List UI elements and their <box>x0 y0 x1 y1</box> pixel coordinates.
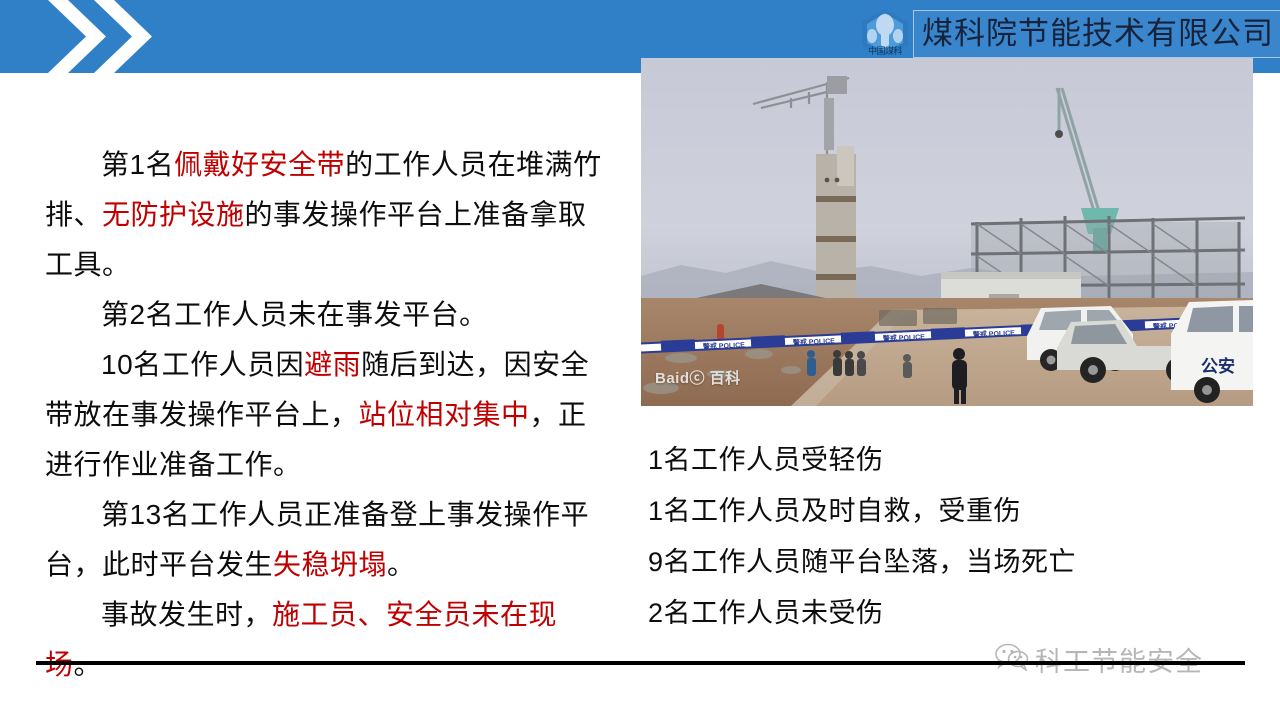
channel-watermark: 科工节能安全 <box>995 640 1203 679</box>
body-text: 事故发生时， <box>101 599 272 630</box>
highlighted-text: 佩戴好安全带 <box>174 149 345 180</box>
watermark-label: 科工节能安全 <box>1035 640 1203 679</box>
company-name: 煤科院节能技术有限公司 <box>922 12 1274 56</box>
logo-caption: 中国煤科 <box>852 46 918 56</box>
casualty-summary-list: 1名工作人员受轻伤 1名工作人员及时自救，受重伤 9名工作人员随平台坠落，当场死… <box>648 435 1248 639</box>
paragraph: 第2名工作人员未在事发平台。 <box>45 290 605 340</box>
body-text: 第1名 <box>101 149 174 180</box>
body-text: 。 <box>387 549 416 580</box>
double-chevron-right-icon <box>48 0 168 73</box>
paragraph: 10名工作人员因避雨随后到达，因安全带放在事发操作平台上，站位相对集中，正进行作… <box>45 340 605 490</box>
wechat-icon <box>995 643 1029 676</box>
list-item: 2名工作人员未受伤 <box>648 588 1248 639</box>
body-text: 第2名工作人员未在事发平台。 <box>101 299 488 330</box>
list-item: 1名工作人员受轻伤 <box>648 435 1248 486</box>
highlighted-text: 无防护设施 <box>102 199 245 230</box>
highlighted-text: 站位相对集中 <box>359 399 530 430</box>
paragraph: 第1名佩戴好安全带的工作人员在堆满竹排、无防护设施的事发操作平台上准备拿取工具。 <box>45 140 605 290</box>
slide-canvas: 中国煤科 煤科院节能技术有限公司 <box>0 0 1280 720</box>
list-item: 9名工作人员随平台坠落，当场死亡 <box>648 537 1248 588</box>
paragraph: 事故发生时，施工员、安全员未在现场。 <box>45 590 605 690</box>
paragraph: 第13名工作人员正准备登上事发操作平台，此时平台发生失稳坍塌。 <box>45 490 605 590</box>
body-text: 10名工作人员因 <box>101 349 304 380</box>
accident-site-photograph: 警戒 POLICE 警戒 POLICE 警戒 POLICE 警戒 POLICE … <box>641 58 1253 406</box>
highlighted-text: 失稳坍塌 <box>273 549 387 580</box>
narrative-text-column: 第1名佩戴好安全带的工作人员在堆满竹排、无防护设施的事发操作平台上准备拿取工具。… <box>45 140 605 690</box>
list-item: 1名工作人员及时自救，受重伤 <box>648 486 1248 537</box>
photo-credit-watermark: Baidⓒ 百科 <box>655 367 741 388</box>
svg-text:公安: 公安 <box>1201 356 1235 376</box>
highlighted-text: 避雨 <box>304 349 361 380</box>
